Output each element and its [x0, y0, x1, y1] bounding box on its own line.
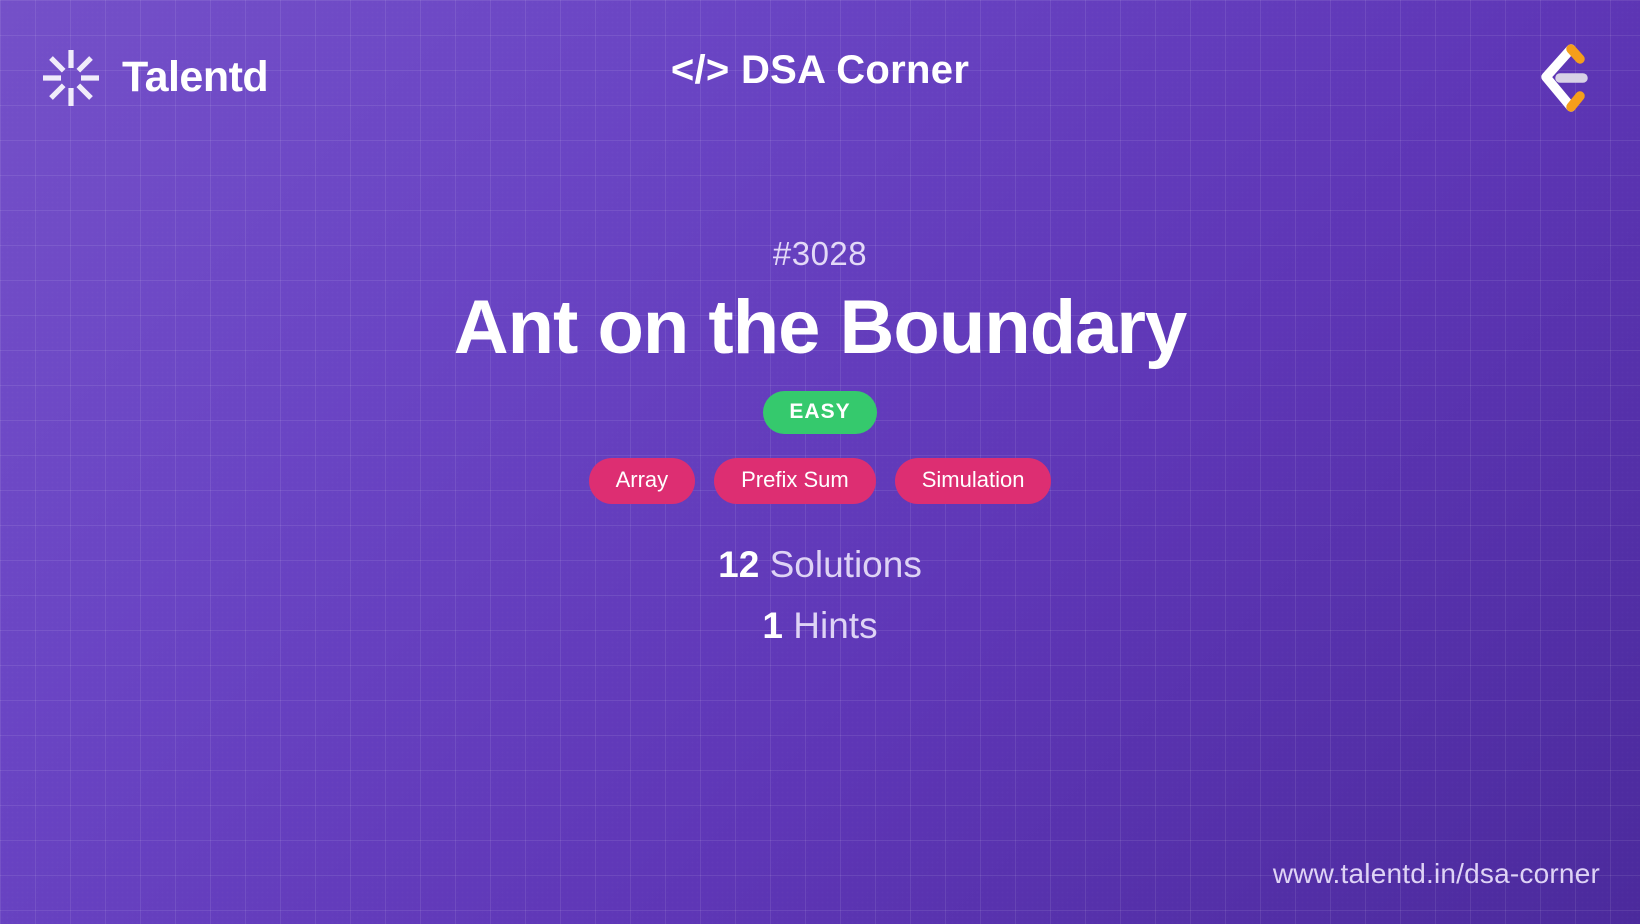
- tag-chip[interactable]: Array: [589, 458, 696, 504]
- card-header: Talentd: [0, 0, 1640, 155]
- hints-count: 1: [762, 605, 783, 646]
- asterisk-starburst-icon: [42, 49, 100, 107]
- leetcode-logo-icon: [1516, 37, 1598, 119]
- solutions-label: Solutions: [759, 544, 922, 585]
- solutions-count: 12: [718, 544, 759, 585]
- problem-number: #3028: [773, 235, 867, 273]
- solutions-stat: 12 Solutions: [718, 546, 922, 583]
- brand-logo[interactable]: Talentd: [42, 49, 268, 107]
- tag-chip[interactable]: Prefix Sum: [714, 458, 876, 504]
- hints-label: Hints: [783, 605, 878, 646]
- problem-details: #3028 Ant on the Boundary EASY Array Pre…: [0, 235, 1640, 668]
- problem-title: Ant on the Boundary: [454, 287, 1187, 369]
- brand-name: Talentd: [122, 56, 268, 99]
- dsa-problem-card: Talentd </> DSA Corner #3028 Ant on the …: [0, 0, 1640, 924]
- tag-list: Array Prefix Sum Simulation: [589, 458, 1052, 504]
- footer-url[interactable]: www.talentd.in/dsa-corner: [1273, 858, 1600, 890]
- difficulty-badge: EASY: [763, 391, 876, 434]
- tag-chip[interactable]: Simulation: [895, 458, 1052, 504]
- hints-stat: 1 Hints: [762, 607, 877, 644]
